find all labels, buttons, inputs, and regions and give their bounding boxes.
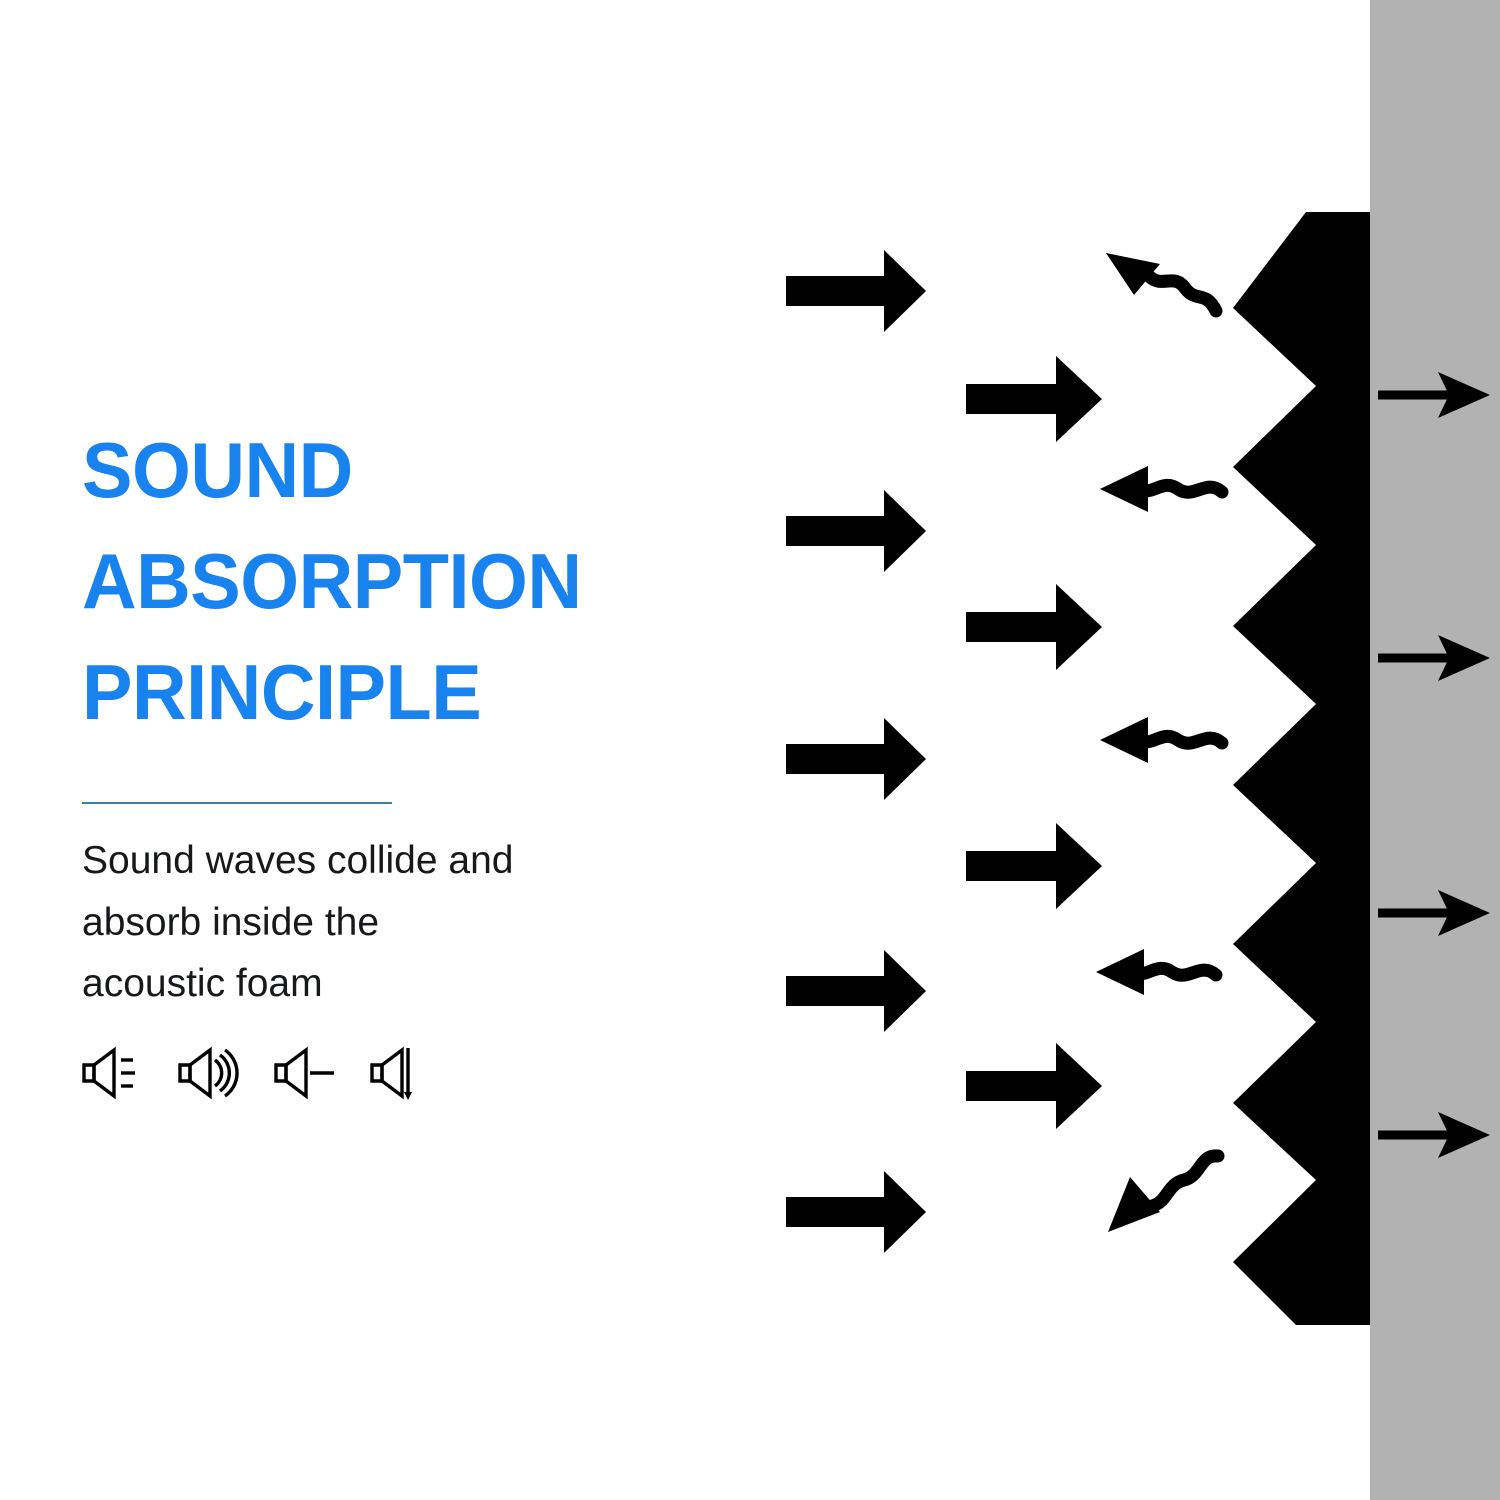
reflected-wavy-arrow-group (1096, 253, 1222, 1232)
sound-absorption-infographic: SOUND ABSORPTION PRINCIPLE Sound waves c… (0, 0, 1500, 1500)
transmitted-arrow-1 (1378, 372, 1490, 418)
incoming-arrow-9 (966, 1043, 1102, 1129)
incoming-arrow-group-a (786, 250, 926, 1253)
incoming-arrow-5 (786, 1171, 926, 1253)
transmitted-arrow-4 (1378, 1112, 1490, 1158)
reflected-wavy-arrow-1 (1106, 253, 1216, 311)
incoming-arrow-4 (786, 950, 926, 1032)
reflected-wavy-arrow-2 (1100, 466, 1222, 512)
transmitted-arrow-2 (1378, 635, 1490, 681)
incoming-arrow-1 (786, 250, 926, 332)
diagram-layer (0, 0, 1500, 1500)
transmitted-arrow-group (1378, 372, 1490, 1158)
transmitted-arrow-3 (1378, 890, 1490, 936)
incoming-arrow-3 (786, 718, 926, 800)
reflected-wavy-arrow-4 (1096, 949, 1216, 995)
reflected-wavy-arrow-3 (1100, 717, 1222, 763)
incoming-arrow-8 (966, 823, 1102, 909)
reflected-wavy-arrow-5 (1108, 1156, 1218, 1232)
incoming-arrow-7 (966, 584, 1102, 670)
acoustic-foam-wedge (1233, 212, 1370, 1325)
incoming-arrow-2 (786, 490, 926, 572)
incoming-arrow-6 (966, 356, 1102, 442)
incoming-arrow-group-b (966, 356, 1102, 1129)
